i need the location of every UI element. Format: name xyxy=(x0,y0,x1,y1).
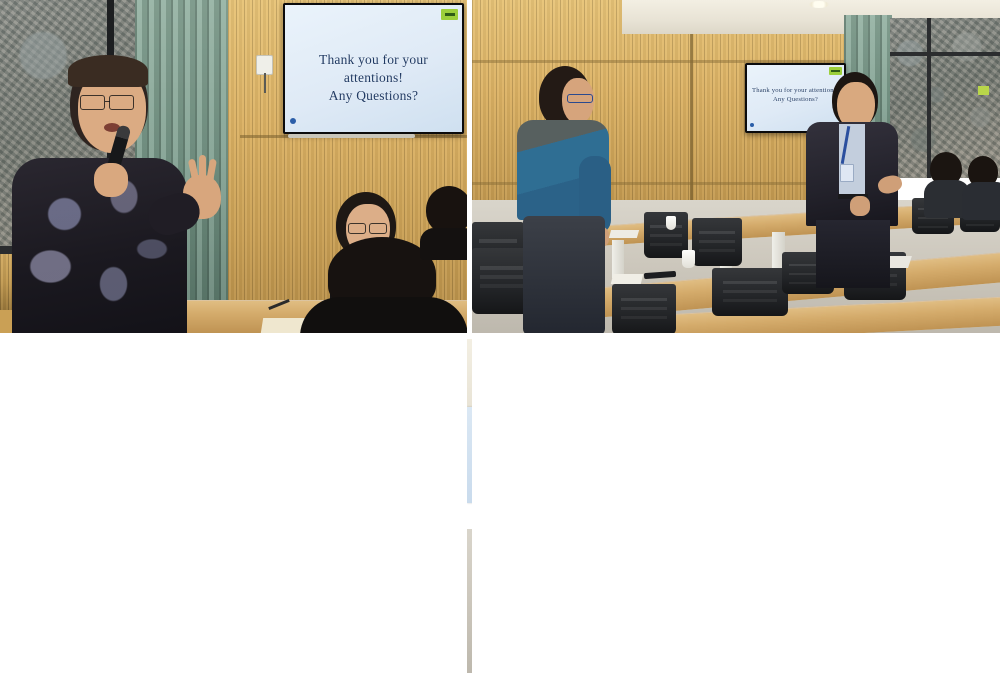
blue-slide-dot xyxy=(290,118,296,124)
presenter-hand-left xyxy=(850,196,870,216)
ceiling-downlight-1 xyxy=(809,1,829,8)
attendee-b-torso xyxy=(962,182,1000,220)
window-frame-horizontal xyxy=(890,52,1000,56)
paper-left xyxy=(609,230,639,238)
questioner-trousers xyxy=(523,216,605,333)
panel-top-right[interactable]: Thank you for your attentions! Any Quest… xyxy=(472,0,1000,333)
chair-front-1[interactable] xyxy=(612,284,676,333)
speaker-hand-on-microphone xyxy=(94,163,128,197)
speaker-glasses-bridge xyxy=(105,101,110,102)
man-right-head xyxy=(426,186,467,234)
wall-display[interactable]: Thank you for your attentions! Any Quest… xyxy=(283,3,464,134)
projection-screen-text: THANK YOU! xyxy=(467,451,472,467)
woman-glasses-left xyxy=(348,223,366,234)
seated-attendee-b[interactable] xyxy=(966,156,1000,218)
wall-socket-cable xyxy=(264,73,266,93)
standing-questioner-blue-fleece[interactable] xyxy=(517,66,612,333)
slide-line-1: Thank you for your attentions! xyxy=(292,51,455,87)
audience-man-right-edge[interactable] xyxy=(426,186,467,258)
man-shoulders xyxy=(300,297,467,333)
speaker-hair xyxy=(68,55,148,87)
gutter-horizontal-right xyxy=(0,339,467,673)
speaker-glasses-left xyxy=(80,95,105,110)
chair-front-2[interactable] xyxy=(712,268,788,316)
tv-mount-bar xyxy=(288,134,415,138)
photo-collage: Thank you for your attentions! Any Quest… xyxy=(0,0,1000,673)
chair-center[interactable] xyxy=(692,218,742,266)
exit-sign xyxy=(978,86,989,95)
presenter-id-card xyxy=(840,164,854,182)
speaker-finger-3 xyxy=(206,159,217,183)
presenter-trousers xyxy=(816,220,890,288)
woman-glasses-right xyxy=(369,223,387,234)
wall-socket xyxy=(256,55,273,75)
blue-slide-dot xyxy=(750,123,754,127)
panel-top-left[interactable]: Thank you for your attentions! Any Quest… xyxy=(0,0,467,333)
green-corner-logo xyxy=(441,9,458,20)
panel-bottom-left[interactable]: THANK YOU! xyxy=(467,339,472,673)
man-right-shoulders xyxy=(420,228,467,260)
slide-line-2: Any Questions? xyxy=(292,87,455,105)
speaker-finger-2 xyxy=(199,155,206,181)
questioner-glasses xyxy=(567,94,593,103)
gutter-vertical-bottom xyxy=(472,339,1000,673)
floor xyxy=(467,529,472,673)
paper-cup-2 xyxy=(682,250,695,268)
desk-leg-3 xyxy=(612,240,624,278)
speaker-with-microphone[interactable] xyxy=(8,55,223,333)
speaker-glasses-right xyxy=(109,95,134,110)
paper-cup-1 xyxy=(666,216,676,230)
notepad xyxy=(611,274,643,284)
display-screen: Thank you for your attentions! Any Quest… xyxy=(285,5,462,132)
presenter-dark-suit-with-lanyard[interactable] xyxy=(806,72,902,262)
